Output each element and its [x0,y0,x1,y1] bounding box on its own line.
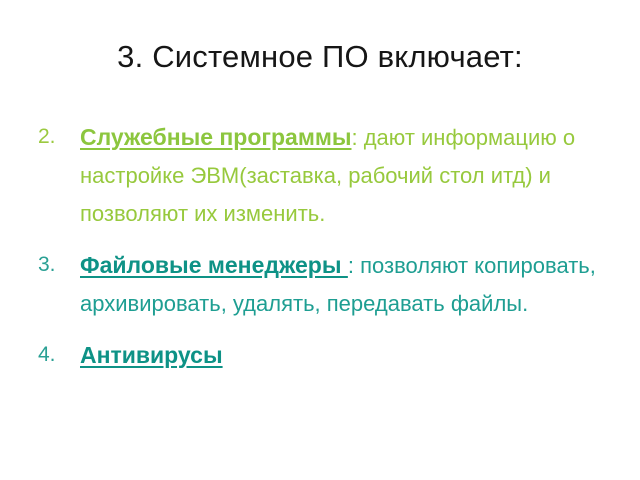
list-item-lead-term: Служебные программы [80,124,352,150]
list-item-marker: 2. [38,118,56,156]
slide-title: 3. Системное ПО включает: [0,36,640,78]
list-item: 4.Антивирусы [38,336,614,375]
presentation-slide: 3. Системное ПО включает: 2.Служебные пр… [0,0,640,480]
list-item-marker: 4. [38,336,56,374]
list-item: 2.Служебные программы: дают информацию о… [38,118,614,233]
list-item: 3.Файловые менеджеры : позволяют копиров… [38,246,614,323]
list-item-lead-term: Файловые менеджеры [80,252,348,278]
list-item-lead-term: Антивирусы [80,342,223,368]
list-item-marker: 3. [38,246,56,284]
slide-body-list: 2.Служебные программы: дают информацию о… [38,118,614,388]
